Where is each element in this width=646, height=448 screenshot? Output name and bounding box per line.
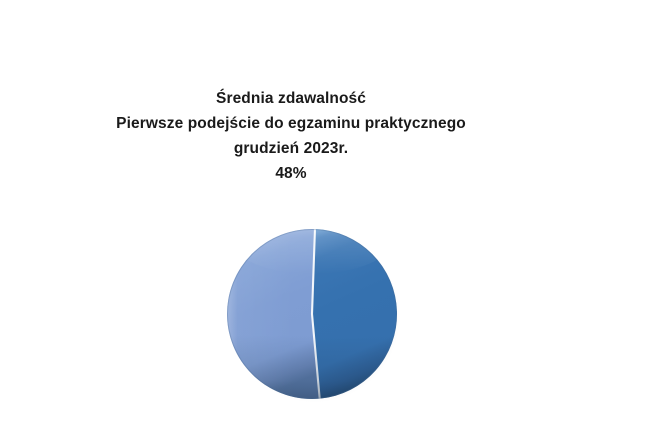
- pie-left-rim-light: [225, 226, 295, 402]
- chart-title-line-4-percent: 48%: [0, 161, 582, 186]
- chart-title-block: Średnia zdawalność Pierwsze podejście do…: [0, 86, 582, 186]
- chart-title-line-3: grudzień 2023r.: [0, 136, 582, 161]
- pie-chart: [225, 226, 405, 406]
- chart-title-line-2: Pierwsze podejście do egzaminu praktyczn…: [0, 111, 582, 136]
- chart-title-line-1: Średnia zdawalność: [0, 86, 582, 111]
- pie-chart-svg: [225, 226, 405, 406]
